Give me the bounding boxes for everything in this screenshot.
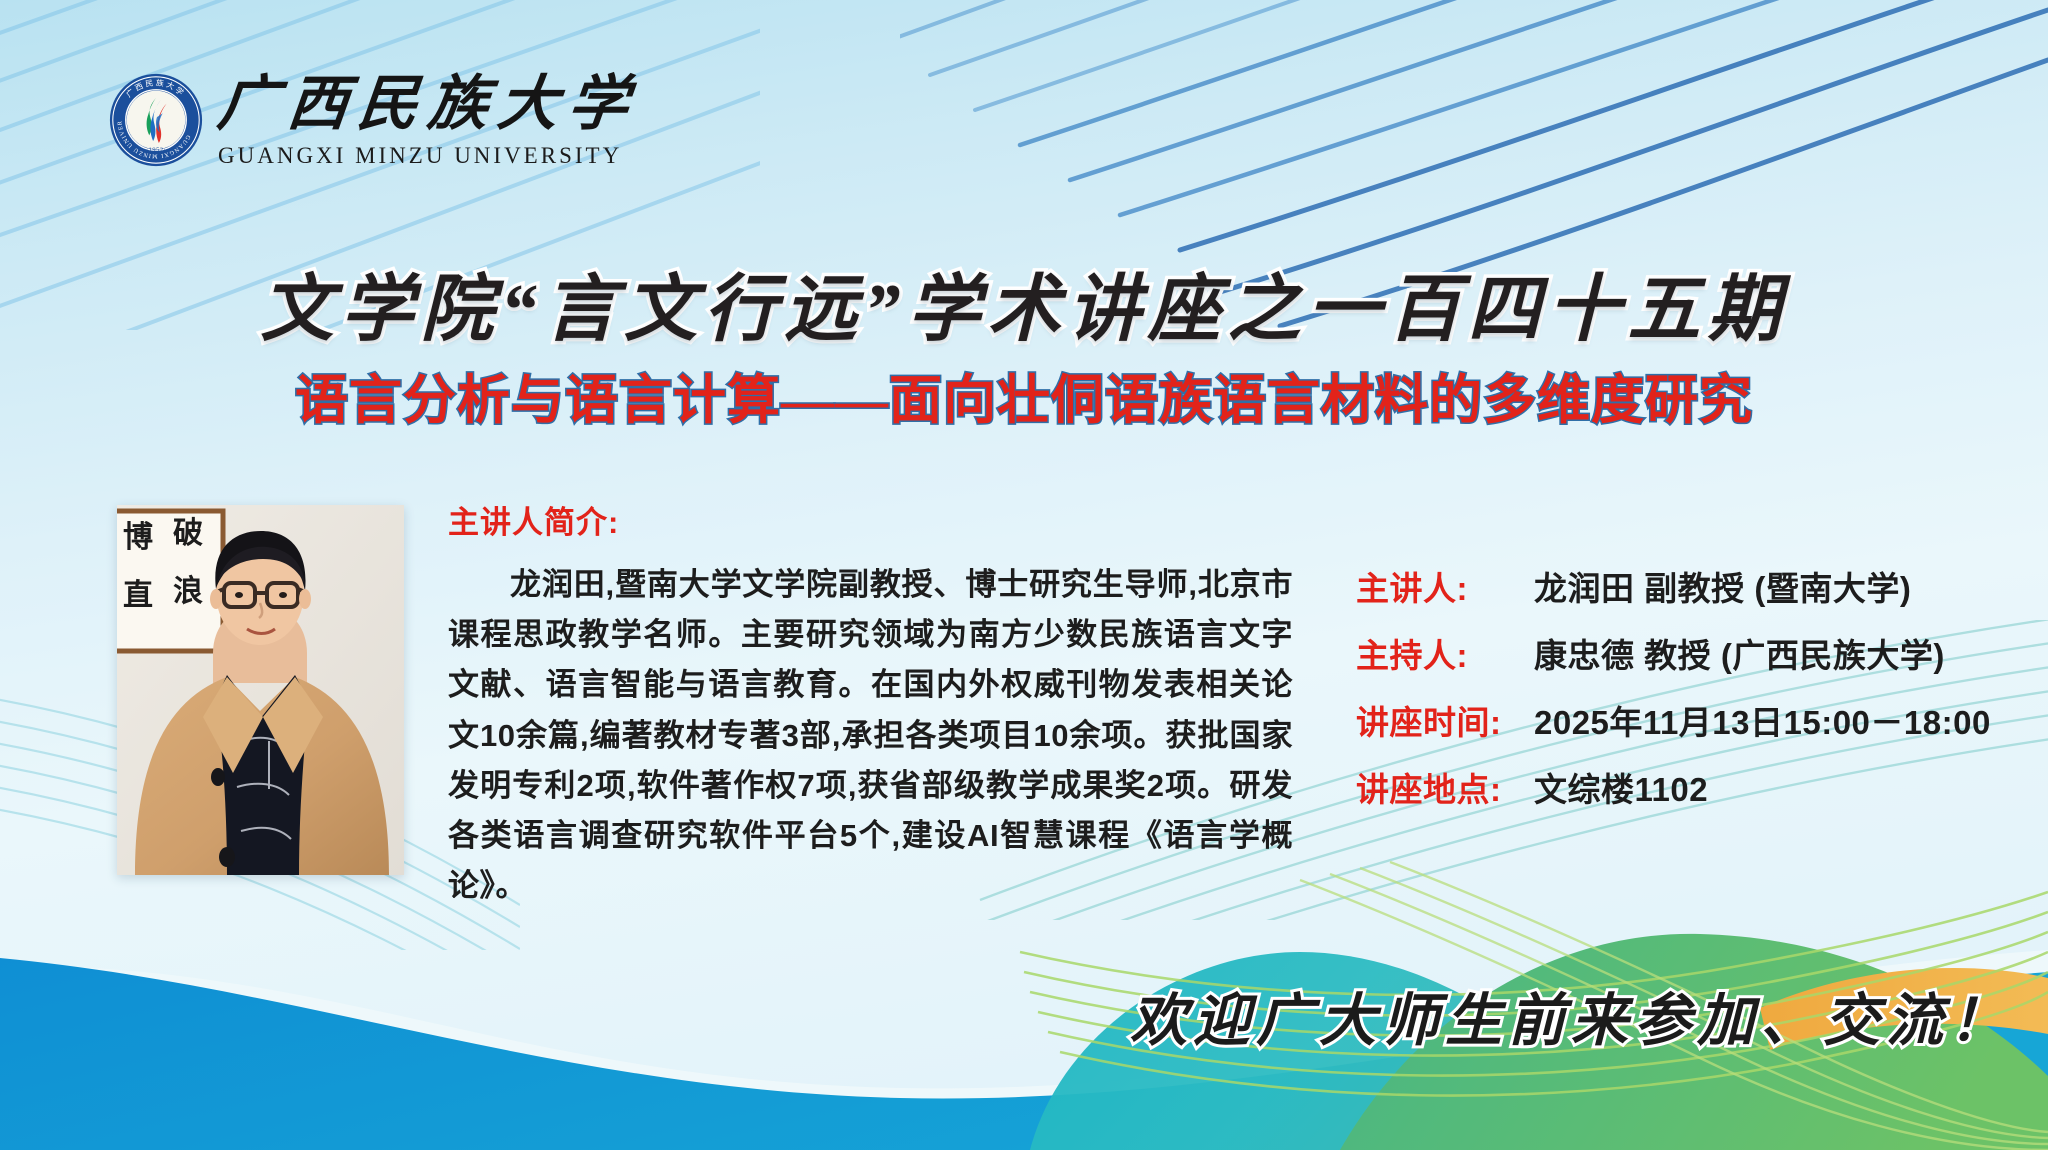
speaker-bio-block: 主讲人简介: 龙润田,暨南大学文学院副教授、博士研究生导师,北京市课程思政教学名… xyxy=(448,497,1293,912)
speaker-bio-body: 龙润田,暨南大学文学院副教授、博士研究生导师,北京市课程思政教学名师。主要研究领… xyxy=(448,560,1293,912)
info-value-host: 康忠德 教授 (广西民族大学) xyxy=(1534,629,1945,677)
info-row-time: 讲座时间: 2025年11月13日15:00－18:00 xyxy=(1356,696,1991,744)
info-row-host: 主持人: 康忠德 教授 (广西民族大学) xyxy=(1356,629,1991,677)
info-label-host: 主持人: xyxy=(1356,629,1534,677)
svg-text:直: 直 xyxy=(123,579,153,612)
university-logo: ·1952· 广西民族大学 GUANGXI MINZU UNIVERSITY 广… xyxy=(108,72,638,168)
lecture-info-block: 主讲人: 龙润田 副教授 (暨南大学) 主持人: 康忠德 教授 (广西民族大学)… xyxy=(1356,562,1991,830)
svg-text:浪: 浪 xyxy=(173,574,203,608)
svg-text:博: 博 xyxy=(123,521,153,554)
poster-canvas: ·1952· 广西民族大学 GUANGXI MINZU UNIVERSITY 广… xyxy=(0,0,2048,1150)
info-label-speaker: 主讲人: xyxy=(1356,562,1534,610)
info-value-speaker: 龙润田 副教授 (暨南大学) xyxy=(1534,562,1911,610)
university-wordmark: 广西民族大学 GUANGXI MINZU UNIVERSITY xyxy=(218,74,638,167)
svg-text:破: 破 xyxy=(173,517,203,550)
info-label-venue: 讲座地点: xyxy=(1356,763,1534,811)
info-value-venue: 文综楼1102 xyxy=(1534,763,1708,811)
info-row-venue: 讲座地点: 文综楼1102 xyxy=(1356,763,1991,811)
speaker-bio-heading: 主讲人简介: xyxy=(448,497,1293,542)
info-label-time: 讲座时间: xyxy=(1356,696,1534,744)
university-name-en: GUANGXI MINZU UNIVERSITY xyxy=(218,144,638,167)
welcome-message: 欢迎广大师生前来参加、交流！ xyxy=(1130,975,2012,1057)
speaker-portrait: 博 破 直 浪 xyxy=(117,505,404,875)
guangxi-minzu-university-emblem-icon: ·1952· 广西民族大学 GUANGXI MINZU UNIVERSITY xyxy=(108,72,204,168)
lecture-topic-title: 语言分析与语言计算——面向壮侗语族语言材料的多维度研究 xyxy=(0,358,2048,434)
info-row-speaker: 主讲人: 龙润田 副教授 (暨南大学) xyxy=(1356,562,1991,610)
lecture-series-title: 文学院“言文行远”学术讲座之一百四十五期 xyxy=(0,250,2048,356)
university-name-cn: 广西民族大学 xyxy=(215,74,641,134)
info-value-time: 2025年11月13日15:00－18:00 xyxy=(1534,696,1991,744)
